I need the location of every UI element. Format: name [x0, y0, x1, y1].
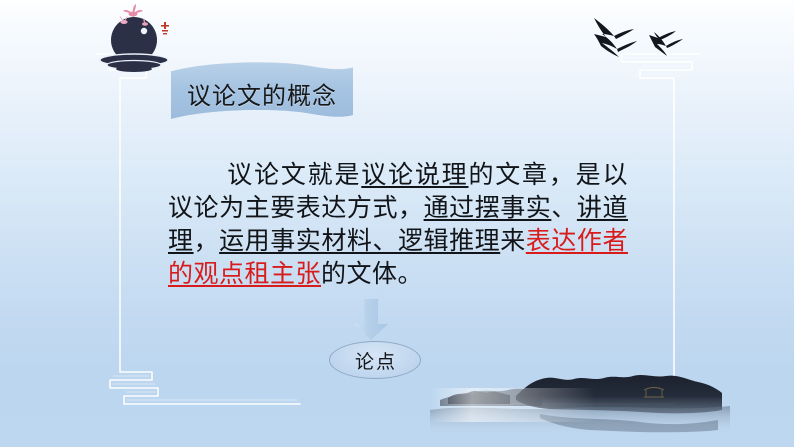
ink-wash-mountains — [430, 362, 730, 447]
banner-title-text: 议论文的概念 — [162, 58, 362, 130]
definition-paragraph: 议论文就是议论说理的文章，是以议论为主要表达方式，通过摆事实、讲道理，运用事实材… — [168, 158, 628, 290]
line3-mid: ， — [194, 226, 220, 255]
swallow-birds-icon — [586, 8, 702, 64]
down-arrow-icon — [352, 299, 390, 341]
conclusion-label: 论点 — [353, 347, 397, 374]
line1-underlined: 议论说理 — [361, 160, 468, 189]
line2-tail: 、 — [551, 193, 577, 222]
slide-canvas: 议论文的概念 议论文就是议论说理的文章，是以议论为主要表达方式，通过摆事实、讲道… — [0, 0, 794, 447]
line3-tail: 来 — [500, 226, 526, 255]
line4-tail: 的文体。 — [321, 259, 423, 288]
line3-underlined-b: 运用事实材料、逻辑推理 — [219, 226, 500, 255]
conclusion-ellipse: 论点 — [329, 341, 421, 379]
line1-tail: 的文章，是 — [468, 160, 602, 189]
line2-underlined: 通过摆事实 — [424, 193, 552, 222]
title-banner: 议论文的概念 — [162, 58, 362, 130]
line1-lead: 议论文就是 — [226, 160, 361, 189]
